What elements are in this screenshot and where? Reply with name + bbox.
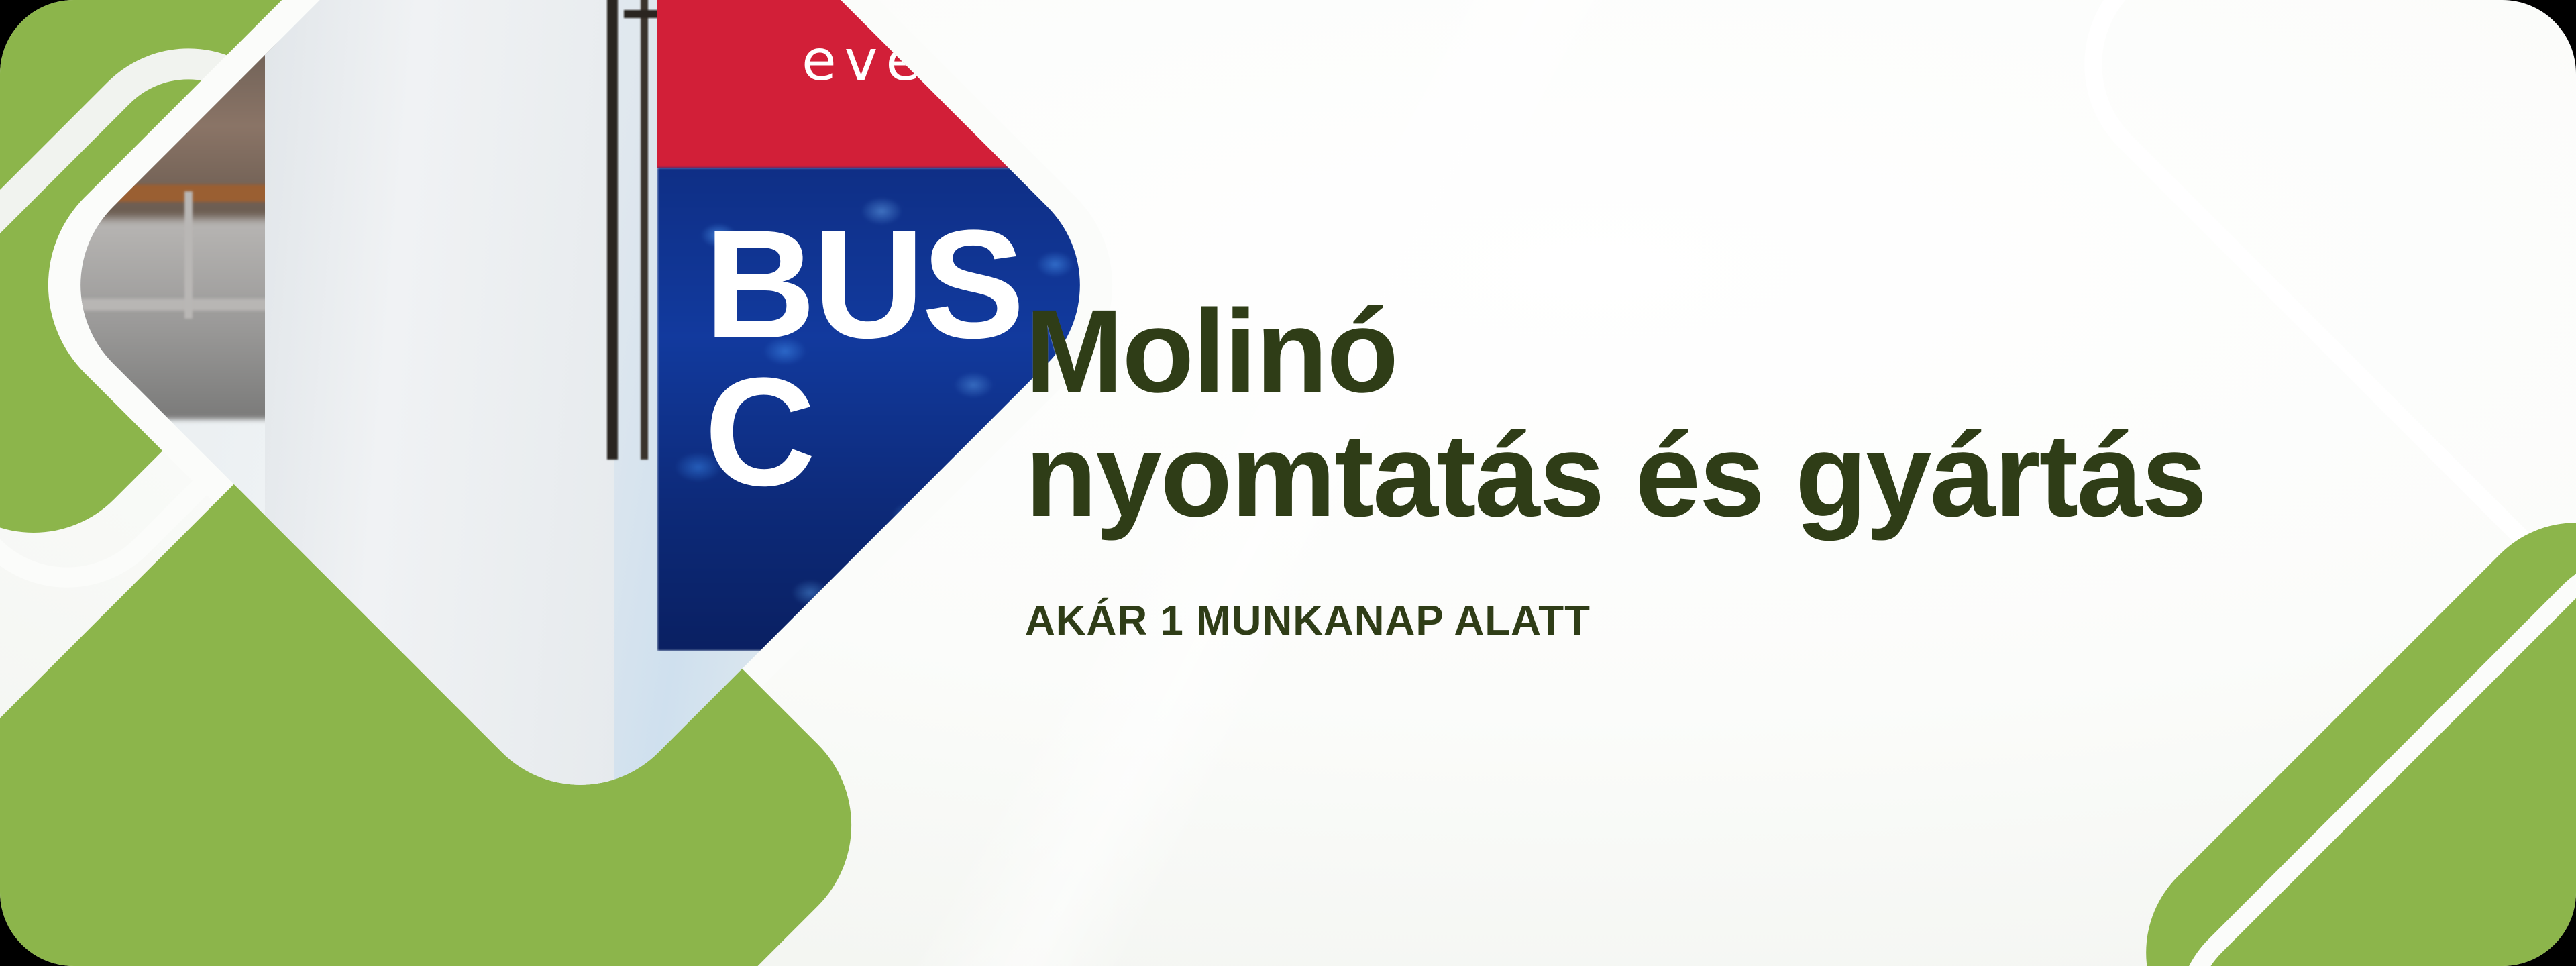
promo-banner: hello_ event. BUS C Molinó nyomtatás és …	[0, 0, 2576, 966]
subheadline: AKÁR 1 MUNKANAP ALATT	[1025, 597, 2300, 645]
banner-headline-line2: C	[704, 362, 813, 501]
photo-frame-upright-2	[641, 0, 648, 460]
headline-line-1: Molinó	[1025, 286, 1397, 417]
photo-frame-upright-1	[607, 0, 618, 460]
page-title: Molinó nyomtatás és gyártás	[1025, 290, 2300, 538]
headline-line-2: nyomtatás és gyártás	[1025, 414, 2300, 538]
photo-baluster-2	[184, 191, 193, 319]
copy-block: Molinó nyomtatás és gyártás AKÁR 1 MUNKA…	[1025, 290, 2300, 645]
banner-headline-line1: BUS	[704, 215, 1022, 354]
